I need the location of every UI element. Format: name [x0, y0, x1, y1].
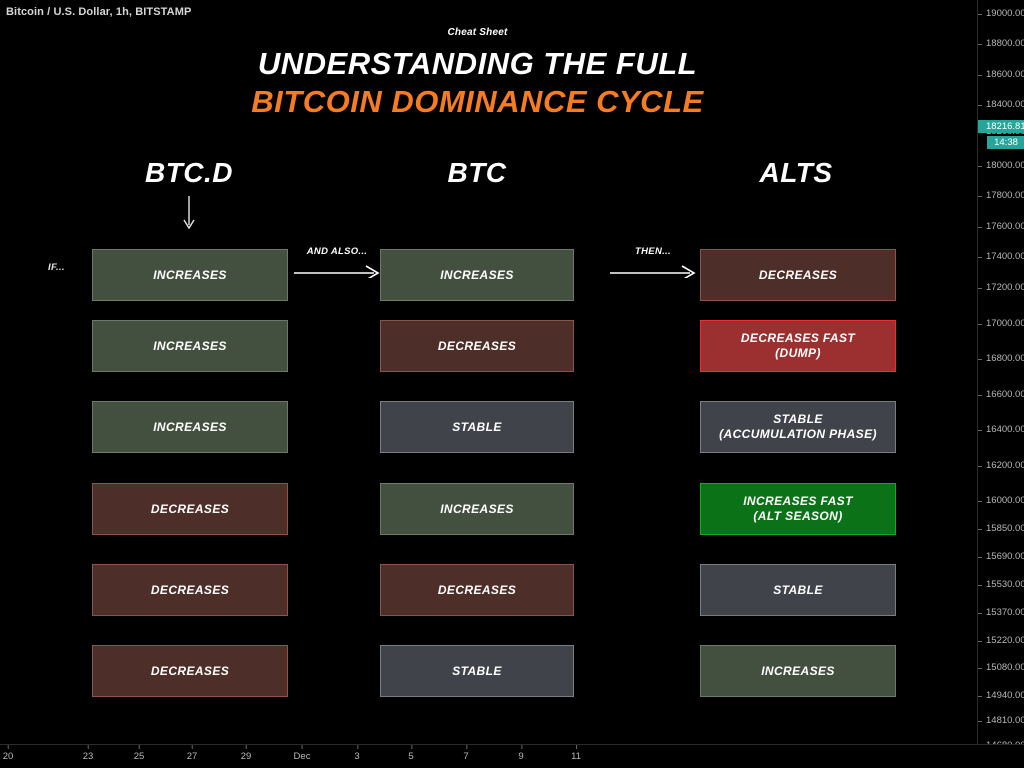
cycle-cell-line1: INCREASES FAST	[743, 494, 853, 508]
column-header-alts: ALTS	[696, 157, 896, 189]
price-tick: 14940.00	[978, 690, 1024, 702]
price-tick: 16200.00	[978, 460, 1024, 472]
price-tick: 18600.00	[978, 69, 1024, 81]
cycle-cell-btcd-5: DECREASES	[92, 564, 288, 616]
arrow-right-icon	[294, 262, 380, 278]
price-tick: 18400.00	[978, 99, 1024, 111]
cycle-cell-line1: DECREASES FAST	[741, 331, 855, 345]
connector-then: THEN...	[610, 246, 696, 292]
cycle-cell-btc-3: STABLE	[380, 401, 574, 453]
time-tick: 7	[463, 751, 468, 762]
cycle-cell-line1: STABLE	[773, 412, 823, 426]
time-tick: 9	[518, 751, 523, 762]
cycle-cell-line1: INCREASES	[440, 502, 514, 516]
cycle-cell-btc-1: INCREASES	[380, 249, 574, 301]
cycle-cell-line1: INCREASES	[761, 664, 835, 678]
price-tick: 18000.00	[978, 160, 1024, 172]
price-tick: 15690.00	[978, 551, 1024, 563]
price-tick: 17400.00	[978, 251, 1024, 263]
if-label: IF...	[48, 262, 65, 273]
cycle-cell-line1: DECREASES	[151, 502, 229, 516]
cycle-cell-line2: (DUMP)	[741, 346, 855, 361]
price-tick: 17600.00	[978, 221, 1024, 233]
tradingview-chart-screen: Bitcoin / U.S. Dollar, 1h, BITSTAMP Chea…	[0, 0, 1024, 768]
cycle-cell-btc-5: DECREASES	[380, 564, 574, 616]
time-tick: 3	[354, 751, 359, 762]
time-tick: 27	[187, 751, 198, 762]
cycle-cell-btcd-4: DECREASES	[92, 483, 288, 535]
connector-then-label: THEN...	[610, 246, 696, 257]
cycle-cell-btcd-2: INCREASES	[92, 320, 288, 372]
current-price-badge: 18216.81	[978, 120, 1024, 133]
price-axis[interactable]: 19000.0018800.0018600.0018400.0018200.00…	[977, 0, 1024, 744]
cycle-cell-alts-3: STABLE(ACCUMULATION PHASE)	[700, 401, 896, 453]
time-tick: 20	[3, 751, 14, 762]
price-tick: 15080.00	[978, 662, 1024, 674]
page-title-line1: UNDERSTANDING THE FULL	[0, 46, 955, 82]
cycle-cell-line1: DECREASES	[438, 583, 516, 597]
price-tick: 17800.00	[978, 190, 1024, 202]
cycle-cell-line1: INCREASES	[153, 268, 227, 282]
cycle-cell-line1: DECREASES	[151, 583, 229, 597]
cycle-cell-btcd-3: INCREASES	[92, 401, 288, 453]
time-tick: 5	[408, 751, 413, 762]
time-tick: 11	[571, 751, 581, 762]
arrow-right-icon	[610, 262, 696, 278]
cycle-cell-line1: DECREASES	[151, 664, 229, 678]
cycle-cell-alts-5: STABLE	[700, 564, 896, 616]
time-axis[interactable]: 2023252729Dec357911	[0, 744, 1024, 768]
cycle-cell-alts-2: DECREASES FAST(DUMP)	[700, 320, 896, 372]
time-tick: Dec	[294, 751, 311, 762]
price-tick: 16400.00	[978, 424, 1024, 436]
time-tick: 29	[241, 751, 252, 762]
cycle-cell-line2: (ALT SEASON)	[743, 509, 853, 524]
price-tick: 14810.00	[978, 715, 1024, 727]
price-tick: 15220.00	[978, 635, 1024, 647]
price-tick: 18800.00	[978, 38, 1024, 50]
cycle-cell-btcd-6: DECREASES	[92, 645, 288, 697]
price-tick: 16000.00	[978, 495, 1024, 507]
price-tick: 15530.00	[978, 579, 1024, 591]
cycle-cell-btc-4: INCREASES	[380, 483, 574, 535]
cycle-cell-line1: DECREASES	[759, 268, 837, 282]
current-time-badge: 14:38	[987, 136, 1024, 149]
cycle-cell-line1: STABLE	[452, 420, 502, 434]
cycle-cell-line1: DECREASES	[438, 339, 516, 353]
cycle-cell-line2: (ACCUMULATION PHASE)	[719, 427, 877, 442]
cycle-cell-line1: STABLE	[773, 583, 823, 597]
price-tick: 19000.00	[978, 8, 1024, 20]
price-tick: 16800.00	[978, 353, 1024, 365]
cycle-cell-btcd-1: INCREASES	[92, 249, 288, 301]
column-header-btc: BTC	[377, 157, 577, 189]
page-title-line2: BITCOIN DOMINANCE CYCLE	[0, 84, 955, 120]
time-tick: 25	[134, 751, 145, 762]
connector-and-also-label: AND ALSO...	[294, 246, 380, 257]
column-header-btcd: BTC.D	[89, 157, 289, 189]
cycle-cell-alts-6: INCREASES	[700, 645, 896, 697]
cycle-cell-alts-1: DECREASES	[700, 249, 896, 301]
cheat-sheet-overlay: Cheat Sheet UNDERSTANDING THE FULL BITCO…	[0, 0, 977, 744]
cycle-cell-line1: INCREASES	[153, 339, 227, 353]
price-tick: 16600.00	[978, 389, 1024, 401]
down-arrow-icon	[180, 196, 198, 230]
cycle-cell-line1: INCREASES	[440, 268, 514, 282]
cycle-cell-btc-6: STABLE	[380, 645, 574, 697]
cycle-cell-btc-2: DECREASES	[380, 320, 574, 372]
connector-and-also: AND ALSO...	[294, 246, 380, 292]
price-tick: 15370.00	[978, 607, 1024, 619]
price-tick: 17200.00	[978, 282, 1024, 294]
cycle-cell-line1: INCREASES	[153, 420, 227, 434]
price-tick: 17000.00	[978, 318, 1024, 330]
cycle-cell-line1: STABLE	[452, 664, 502, 678]
cycle-cell-alts-4: INCREASES FAST(ALT SEASON)	[700, 483, 896, 535]
price-tick: 15850.00	[978, 523, 1024, 535]
time-tick: 23	[83, 751, 94, 762]
cheat-sheet-kicker: Cheat Sheet	[0, 27, 955, 38]
